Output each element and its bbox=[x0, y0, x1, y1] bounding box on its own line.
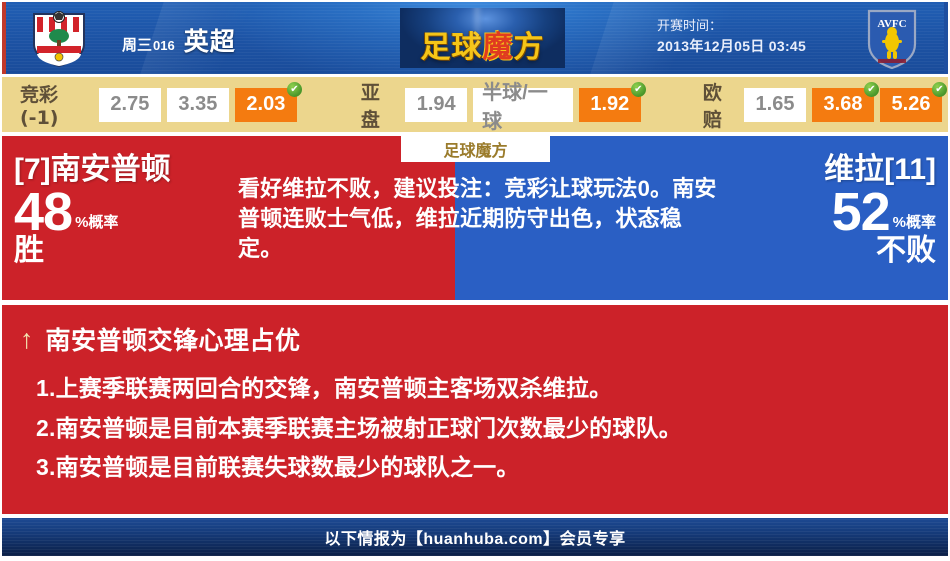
league-info: 周三 016 英超 bbox=[122, 22, 236, 58]
odds-group-jingcai: 竞彩(-1) 2.75 3.35 2.03 ✔ bbox=[20, 80, 303, 129]
odds-group-label-jingcai: 竞彩(-1) bbox=[20, 80, 91, 129]
brand-logo: 足球魔方 bbox=[400, 8, 565, 68]
league-name: 英超 bbox=[184, 22, 236, 58]
brand-logo-part1: 足球 bbox=[421, 31, 483, 64]
odds-group-label-european: 欧赔 bbox=[703, 78, 736, 132]
analysis-header: ↑ 南安普顿交锋心理占优 bbox=[2, 305, 948, 357]
home-probability: 48 %概率 bbox=[14, 188, 171, 238]
kickoff-time: 2013年12月05日 03:45 bbox=[657, 36, 806, 58]
home-probability-suffix: %概率 bbox=[75, 215, 118, 237]
brand-logo-text: 足球魔方 bbox=[400, 22, 565, 66]
prediction-panel: 足球魔方 [7]南安普顿 48 %概率 胜 看好维拉不败，建议投注：竞彩让球玩法… bbox=[2, 136, 948, 300]
home-probability-value: 48 bbox=[14, 188, 72, 238]
odds-value: 1.65 bbox=[756, 93, 795, 116]
away-team-block: 维拉[11] 52 %概率 不败 bbox=[824, 154, 936, 267]
odds-value: 3.68 bbox=[824, 93, 863, 116]
check-icon: ✔ bbox=[631, 82, 646, 97]
odds-group-european: 欧赔 1.65 3.68 ✔ 5.26 ✔ bbox=[703, 78, 948, 132]
match-preview-card: 周三 016 英超 足球魔方 开赛时间： 2013年12月05日 03:45 A… bbox=[0, 2, 950, 561]
odds-group-label-asian: 亚盘 bbox=[361, 78, 397, 132]
footer-text: 以下情报为【huanhuba.com】会员专享 bbox=[324, 525, 625, 549]
check-icon: ✔ bbox=[287, 82, 302, 97]
odds-value: 2.75 bbox=[110, 93, 149, 116]
footer-bar: 以下情报为【huanhuba.com】会员专享 bbox=[2, 518, 948, 556]
odds-value: 5.26 bbox=[892, 93, 931, 116]
aston-villa-fc-crest-icon: AVFC bbox=[866, 8, 918, 70]
odds-cell-jingcai-3[interactable]: 2.03 ✔ bbox=[235, 88, 297, 122]
kickoff-block: 开赛时间： 2013年12月05日 03:45 bbox=[657, 16, 806, 58]
list-item: 3.南安普顿是目前联赛失球数最少的球队之一。 bbox=[36, 448, 948, 488]
kickoff-label: 开赛时间： bbox=[657, 16, 806, 36]
odds-cell-european-3[interactable]: 5.26 ✔ bbox=[880, 88, 942, 122]
odds-cell-jingcai-1[interactable]: 2.75 bbox=[99, 88, 161, 122]
round-weekday: 周三 bbox=[122, 34, 152, 55]
betting-advice: 看好维拉不败，建议投注：竞彩让球玩法0。南安普顿连败士气低，维拉近期防守出色，状… bbox=[238, 174, 718, 264]
odds-cell-european-2[interactable]: 3.68 ✔ bbox=[812, 88, 874, 122]
header-left-accent bbox=[2, 2, 6, 74]
analysis-panel: ↑ 南安普顿交锋心理占优 1.上赛季联赛两回合的交锋，南安普顿主客场双杀维拉。 … bbox=[2, 305, 948, 514]
odds-value: 3.35 bbox=[178, 93, 217, 116]
odds-value: 1.94 bbox=[417, 93, 456, 116]
odds-value: 1.92 bbox=[590, 93, 629, 116]
header-right-accent bbox=[944, 2, 948, 74]
list-item: 1.上赛季联赛两回合的交锋，南安普顿主客场双杀维拉。 bbox=[36, 369, 948, 409]
odds-group-asian: 亚盘 1.94 半球/一球 1.92 ✔ bbox=[361, 78, 647, 132]
check-icon: ✔ bbox=[932, 82, 947, 97]
brand-tab: 足球魔方 bbox=[401, 136, 550, 162]
odds-bar: 竞彩(-1) 2.75 3.35 2.03 ✔ 亚盘 1.94 半球/一球 1.… bbox=[2, 77, 948, 132]
home-team-name: [7]南安普顿 bbox=[14, 154, 171, 186]
check-icon: ✔ bbox=[864, 82, 879, 97]
up-arrow-icon: ↑ bbox=[20, 326, 34, 353]
odds-handicap-value: 半球/一球 bbox=[482, 76, 564, 134]
analysis-list: 1.上赛季联赛两回合的交锋，南安普顿主客场双杀维拉。 2.南安普顿是目前本赛季联… bbox=[2, 357, 948, 488]
away-probability-value: 52 bbox=[832, 188, 890, 238]
odds-cell-european-1[interactable]: 1.65 bbox=[744, 88, 806, 122]
brand-tab-label: 足球魔方 bbox=[443, 137, 507, 161]
away-probability: 52 %概率 bbox=[824, 188, 936, 238]
list-item: 2.南安普顿是目前本赛季联赛主场被射正球门次数最少的球队。 bbox=[36, 409, 948, 449]
match-header: 周三 016 英超 足球魔方 开赛时间： 2013年12月05日 03:45 A… bbox=[2, 2, 948, 74]
home-outcome: 胜 bbox=[14, 235, 171, 267]
odds-value: 2.03 bbox=[246, 93, 285, 116]
home-team-block: [7]南安普顿 48 %概率 胜 bbox=[14, 154, 171, 267]
southampton-fc-crest-icon bbox=[30, 10, 88, 68]
odds-cell-asian-3[interactable]: 1.92 ✔ bbox=[579, 88, 641, 122]
brand-logo-part3: 方 bbox=[514, 31, 545, 64]
odds-cell-asian-2[interactable]: 半球/一球 bbox=[473, 88, 573, 122]
brand-logo-part2: 魔 bbox=[483, 31, 514, 64]
odds-cell-jingcai-2[interactable]: 3.35 bbox=[167, 88, 229, 122]
analysis-title: 南安普顿交锋心理占优 bbox=[46, 321, 301, 357]
round-number: 016 bbox=[153, 38, 175, 53]
away-team-name: 维拉[11] bbox=[824, 154, 936, 186]
odds-cell-asian-1[interactable]: 1.94 bbox=[405, 88, 467, 122]
